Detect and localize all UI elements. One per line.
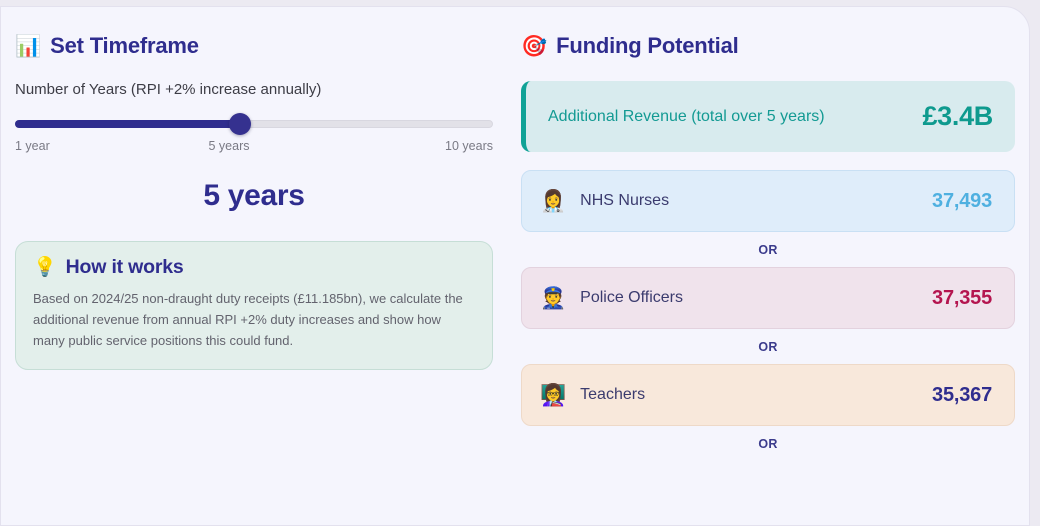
- how-it-works-body: Based on 2024/25 non-draught duty receip…: [33, 288, 475, 351]
- slider-max-label: 10 years: [445, 139, 493, 153]
- two-column-layout: 📊 Set Timeframe Number of Years (RPI +2%…: [1, 7, 1029, 525]
- how-it-works-card: 💡 How it works Based on 2024/25 non-drau…: [15, 241, 493, 370]
- set-timeframe-panel: 📊 Set Timeframe Number of Years (RPI +2%…: [15, 33, 507, 525]
- funding-option-card[interactable]: 👩‍⚕️ NHS Nurses 37,493: [521, 170, 1015, 232]
- years-slider[interactable]: [15, 116, 493, 132]
- funding-option-value: 35,367: [932, 384, 992, 407]
- funding-option-value: 37,493: [932, 190, 992, 213]
- how-it-works-title: How it works: [66, 256, 184, 279]
- target-icon: 🎯: [521, 36, 547, 57]
- funding-option-card[interactable]: 👮 Police Officers 37,355: [521, 267, 1015, 329]
- teacher-icon: 👩‍🏫: [540, 385, 566, 406]
- slider-description: Number of Years (RPI +2% increase annual…: [15, 81, 493, 98]
- nurse-icon: 👩‍⚕️: [540, 191, 566, 212]
- additional-revenue-label: Additional Revenue (total over 5 years): [548, 108, 825, 126]
- funding-option-label: NHS Nurses: [580, 192, 932, 210]
- bar-chart-icon: 📊: [15, 36, 41, 57]
- set-timeframe-title: Set Timeframe: [50, 33, 199, 59]
- funding-potential-panel: 🎯 Funding Potential Additional Revenue (…: [507, 33, 1015, 525]
- slider-current-label: 5 years: [209, 139, 250, 153]
- additional-revenue-card: Additional Revenue (total over 5 years) …: [521, 81, 1015, 152]
- or-separator: OR: [521, 426, 1015, 461]
- main-panel: 📊 Set Timeframe Number of Years (RPI +2%…: [0, 6, 1030, 526]
- or-separator: OR: [521, 329, 1015, 364]
- how-it-works-heading: 💡 How it works: [33, 256, 475, 279]
- funding-option-label: Police Officers: [580, 289, 932, 307]
- funding-potential-heading: 🎯 Funding Potential: [521, 33, 1015, 59]
- slider-tick-labels: 1 year 5 years 10 years: [15, 139, 493, 157]
- slider-min-label: 1 year: [15, 139, 50, 153]
- funding-option-value: 37,355: [932, 287, 992, 310]
- additional-revenue-value: £3.4B: [922, 101, 993, 132]
- slider-thumb[interactable]: [229, 113, 251, 135]
- police-officer-icon: 👮: [540, 288, 566, 309]
- funding-potential-title: Funding Potential: [556, 33, 738, 59]
- set-timeframe-heading: 📊 Set Timeframe: [15, 33, 493, 59]
- or-separator: OR: [521, 232, 1015, 267]
- funding-option-label: Teachers: [580, 386, 932, 404]
- funding-option-card[interactable]: 👩‍🏫 Teachers 35,367: [521, 364, 1015, 426]
- lightbulb-icon: 💡: [33, 258, 57, 277]
- slider-fill: [15, 120, 239, 128]
- selected-timeframe-value: 5 years: [15, 179, 493, 213]
